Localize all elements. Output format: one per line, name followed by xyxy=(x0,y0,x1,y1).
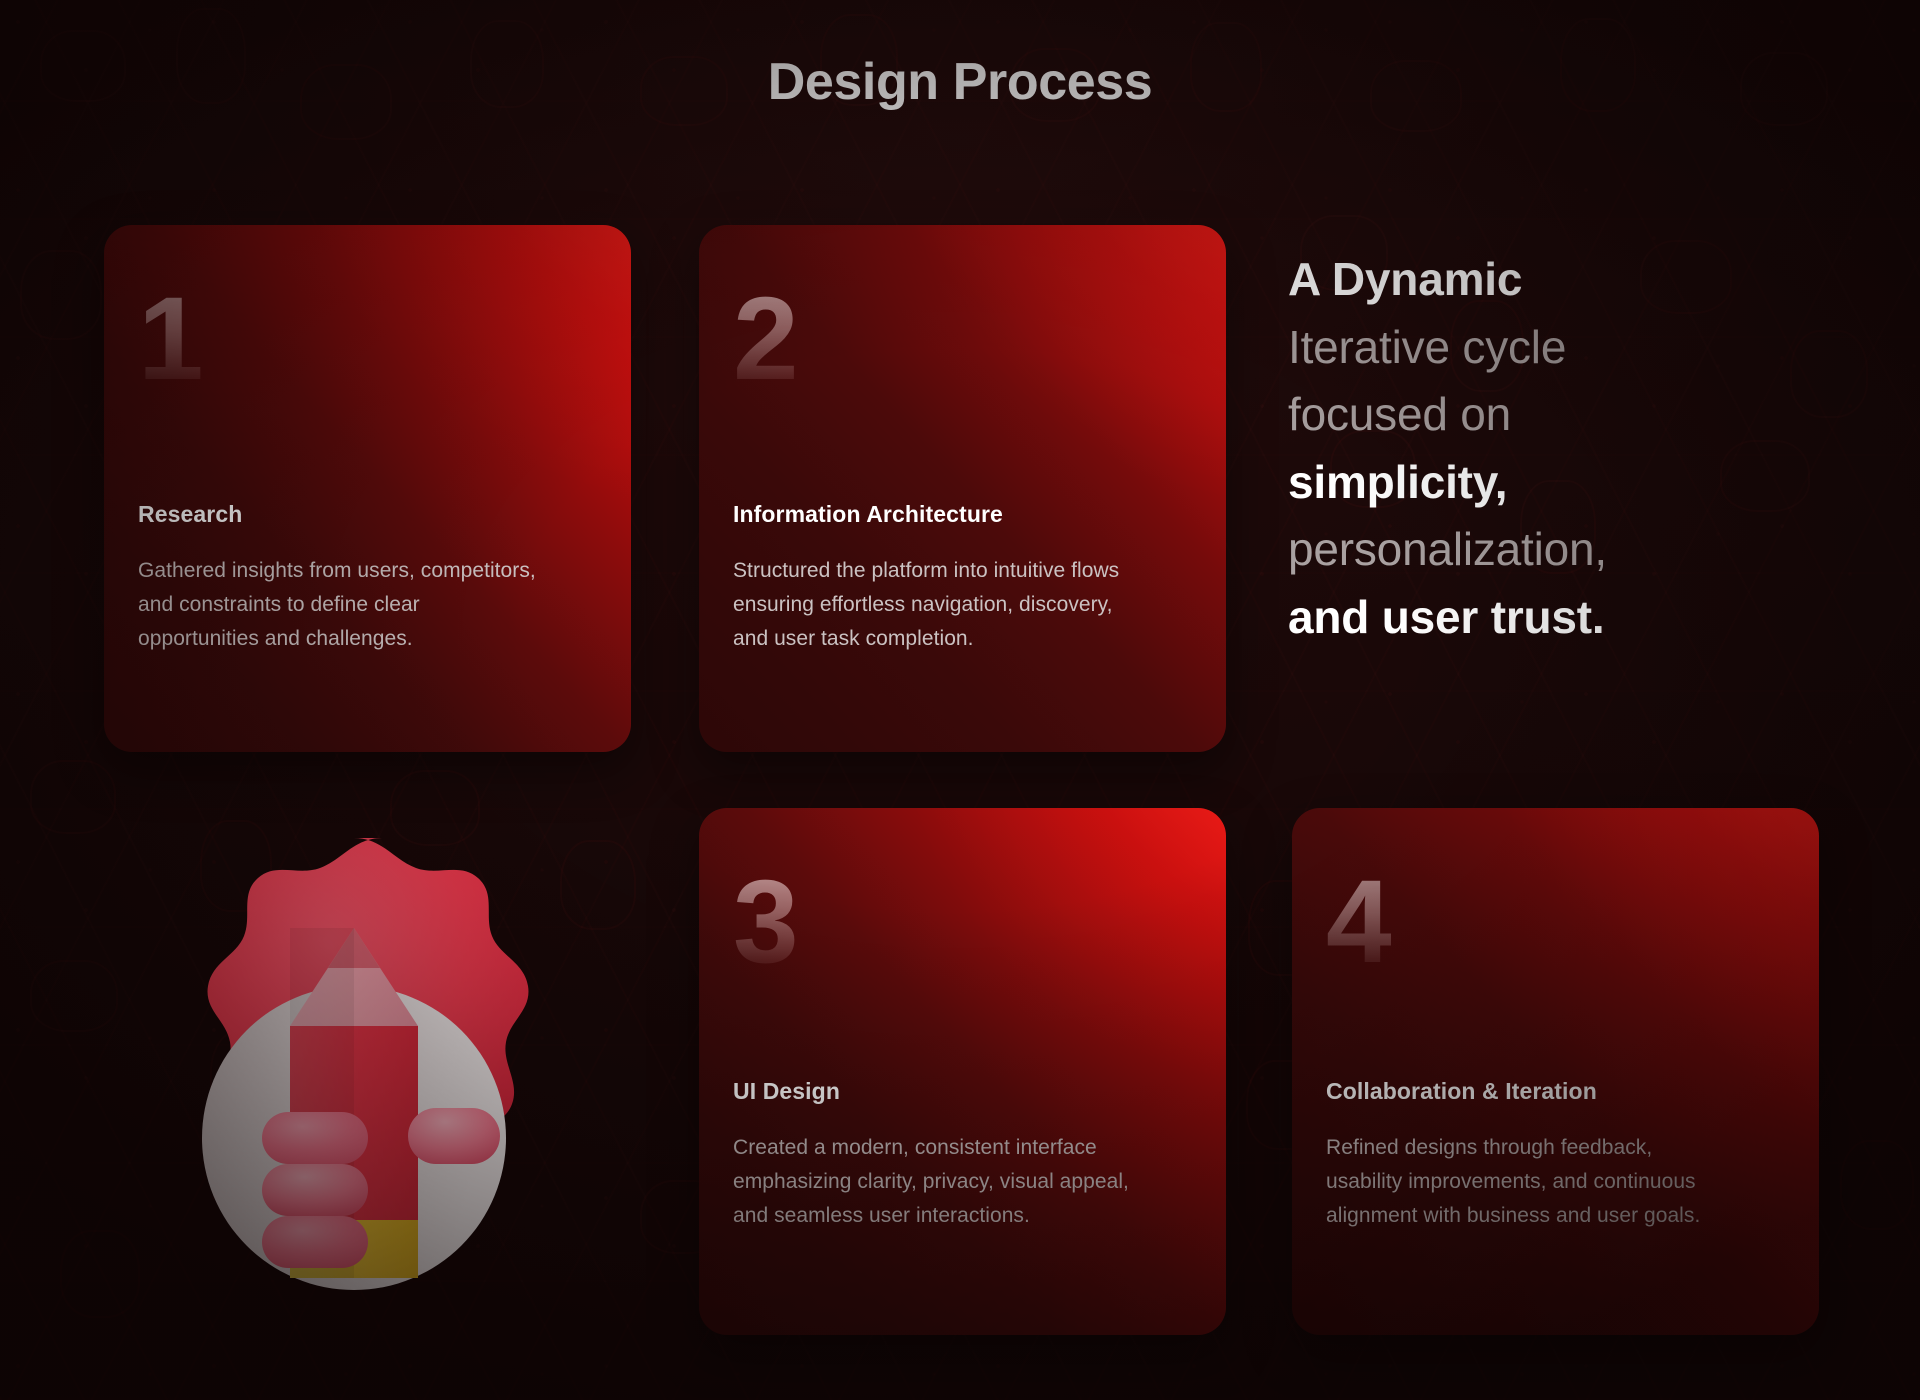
step-number: 3 xyxy=(733,863,799,981)
process-card-ui-design[interactable]: 3 UI Design Created a modern, consistent… xyxy=(699,808,1226,1335)
card-title: Information Architecture xyxy=(733,501,1196,528)
statement-line-4: simplicity, xyxy=(1288,449,1848,517)
process-card-collaboration-iteration[interactable]: 4 Collaboration & Iteration Refined desi… xyxy=(1292,808,1819,1335)
card-description: Refined designs through feedback, usabil… xyxy=(1326,1131,1726,1233)
card-title: Research xyxy=(138,501,601,528)
statement-line-5: personalization, xyxy=(1288,516,1848,584)
step-number: 2 xyxy=(733,280,799,398)
card-title: Collaboration & Iteration xyxy=(1326,1078,1789,1105)
step-number: 4 xyxy=(1326,863,1392,981)
gear-pencil-svg xyxy=(112,812,596,1332)
card-body: UI Design Created a modern, consistent i… xyxy=(733,1078,1196,1233)
card-body: Research Gathered insights from users, c… xyxy=(138,501,601,656)
summary-statement: A Dynamic Iterative cycle focused on sim… xyxy=(1288,246,1848,652)
process-card-research[interactable]: 1 Research Gathered insights from users,… xyxy=(104,225,631,752)
statement-line-2: Iterative cycle xyxy=(1288,314,1848,382)
statement-line-3: focused on xyxy=(1288,381,1848,449)
statement-line-1: A Dynamic xyxy=(1288,246,1848,314)
card-description: Gathered insights from users, competitor… xyxy=(138,554,538,656)
statement-line-6: and user trust. xyxy=(1288,584,1848,652)
card-description: Structured the platform into intuitive f… xyxy=(733,554,1133,656)
gear-pencil-illustration xyxy=(112,812,596,1332)
card-body: Information Architecture Structured the … xyxy=(733,501,1196,656)
card-description: Created a modern, consistent interface e… xyxy=(733,1131,1133,1233)
card-body: Collaboration & Iteration Refined design… xyxy=(1326,1078,1789,1233)
thumb xyxy=(408,1108,500,1164)
card-title: UI Design xyxy=(733,1078,1196,1105)
design-process-slide: Design Process 1 Research Gathered insig… xyxy=(0,0,1920,1400)
step-number: 1 xyxy=(138,280,204,398)
process-card-information-architecture[interactable]: 2 Information Architecture Structured th… xyxy=(699,225,1226,752)
